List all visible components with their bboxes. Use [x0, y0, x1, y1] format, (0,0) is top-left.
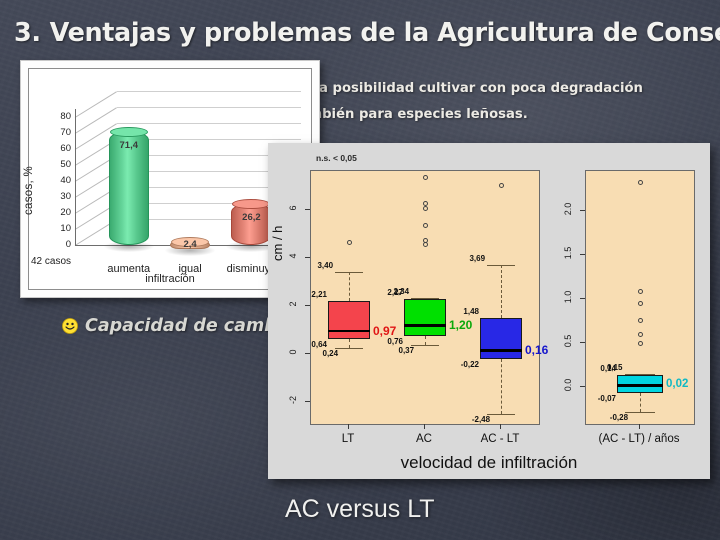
boxplot-whisker-cap-lower	[335, 348, 363, 349]
bar-chart-y-tick: 40	[51, 175, 71, 186]
boxplot-whisker-cap-lower	[487, 414, 515, 415]
boxplot-x-tick-mark	[639, 424, 640, 429]
boxplot-y-tick-label: 0.5	[563, 330, 573, 352]
boxplot-outlier-point	[638, 180, 643, 185]
boxplot-y-tick-mark	[305, 353, 310, 354]
bar-chart-y-tick: 50	[51, 159, 71, 170]
boxplot-category-label: (AC - LT) / años	[579, 433, 699, 445]
boxplot-y-tick-label: 1.0	[563, 286, 573, 308]
bar-value-label: 2,4	[170, 239, 210, 250]
bar-chart-y-tick: 20	[51, 207, 71, 218]
boxplot-y-tick-mark	[580, 254, 585, 255]
boxplot-y-tick-mark	[305, 401, 310, 402]
bar-chart-y-tick: 60	[51, 143, 71, 154]
boxplot-whisker-upper	[349, 272, 350, 301]
page-title: 3.Ventajas y problemas de la Agricultura…	[14, 18, 714, 48]
boxplot-x-tick-mark	[500, 424, 501, 429]
title-number: 3.	[14, 18, 41, 48]
boxplot-q1-label: -0,07	[598, 394, 616, 403]
boxplot-whisker-upper	[501, 265, 502, 318]
boxplot-y-tick-label: 2	[288, 293, 298, 315]
boxplot-whisker-cap-lower	[411, 345, 439, 346]
bar-value-label: 71,4	[109, 140, 149, 151]
bar-chart-y-tick: 70	[51, 127, 71, 138]
boxplot-q1-label: 0,64	[311, 340, 327, 349]
boxplot-q3-label: 1,48	[463, 307, 479, 316]
bar-value-label: 26,2	[231, 212, 271, 223]
bar-cylinder-body	[231, 203, 271, 245]
boxplot-y-tick-label: 4	[288, 245, 298, 267]
boxplot-median-value-label: 0,97	[373, 324, 396, 338]
capacidad-label: Capacidad de cambio	[85, 316, 295, 336]
bar-cylinder-top	[232, 199, 270, 209]
boxplot-y-tick-mark	[580, 298, 585, 299]
bar-chart-y-tick: 30	[51, 191, 71, 202]
boxplot-outlier-point	[638, 301, 643, 306]
boxplot-y-tick-mark	[580, 386, 585, 387]
boxplot-y-tick-label: 1.5	[563, 242, 573, 264]
boxplot-whisker-cap-upper	[487, 265, 515, 266]
bar-chart-y-axis-label: casos, %	[23, 95, 35, 215]
boxplot-x-tick-mark	[424, 424, 425, 429]
boxplot-whisker-high-label: 3,40	[317, 261, 333, 270]
boxplot-x-axis-title: velocidad de infiltración	[268, 453, 710, 473]
boxplot-q3-label: 2,27	[387, 288, 403, 297]
boxplot-y-axis-label: cm / h	[270, 226, 285, 261]
boxplot-y-tick-mark	[580, 342, 585, 343]
boxplot-outlier-point	[423, 223, 428, 228]
bar-chart-gridline	[117, 123, 301, 124]
boxplot-y-tick-label: 0.0	[563, 374, 573, 396]
boxplot-median-line	[480, 349, 522, 352]
boxplot-y-tick-mark	[305, 209, 310, 210]
boxplot-plot-area-left: 3,402,210,640,240,972,342,270,760,371,20…	[310, 170, 540, 425]
boxplot-whisker-low-label: 0,37	[399, 346, 415, 355]
bar-chart-bar: 71,4	[109, 131, 149, 245]
boxplot-outlier-point	[638, 341, 643, 346]
boxplot-outlier-point	[347, 240, 352, 245]
boxplot-median-value-label: 0,16	[525, 343, 548, 357]
bar-chart-y-tick: 0	[51, 239, 71, 250]
boxplot-outlier-point	[423, 206, 428, 211]
boxplot-median-line	[328, 330, 370, 333]
boxplot-outlier-point	[423, 242, 428, 247]
title-text: Ventajas y problemas de la Agricultura d…	[50, 18, 720, 48]
bar-chart-y-tick: 10	[51, 223, 71, 234]
boxplot-whisker-low-label: -0,28	[610, 413, 628, 422]
boxplot-whisker-lower	[501, 359, 502, 413]
capacidad-de-cambio-caption: Capacidad de cambio	[62, 316, 295, 336]
boxplot-box	[480, 318, 522, 359]
boxplot-whisker-high-label: 3,69	[469, 254, 485, 263]
boxplot-outlier-point	[423, 175, 428, 180]
boxplot-y-tick-label: -2	[288, 389, 298, 411]
bar-chart-gridline	[117, 107, 301, 108]
boxplot-whisker-low-label: -2,48	[472, 415, 490, 424]
bar-chart-depth-line	[75, 91, 118, 118]
boxplot-y-tick-label: 0	[288, 341, 298, 363]
boxplot-whisker-cap-upper	[335, 272, 363, 273]
boxplot-x-tick-mark	[348, 424, 349, 429]
boxplot-q3-label: 2,21	[311, 290, 327, 299]
boxplot-median-value-label: 1,20	[449, 318, 472, 332]
boxplot-q1-label: -0,22	[461, 360, 479, 369]
boxplot-outlier-point	[499, 183, 504, 188]
boxplot-whisker-lower	[640, 393, 641, 412]
boxplot-whisker-cap-lower	[625, 412, 655, 413]
boxplot-median-value-label: 0,02	[666, 378, 688, 390]
boxplot-whisker-low-label: 0,24	[323, 349, 339, 358]
boxplot-outlier-point	[638, 332, 643, 337]
boxplot-q1-label: 0,76	[387, 337, 403, 346]
boxplot-median-line	[617, 384, 663, 387]
boxplot-y-tick-label: 6	[288, 197, 298, 219]
boxplot-y-tick-mark	[580, 210, 585, 211]
boxplot-whisker-lower	[349, 339, 350, 349]
bar-cylinder-top	[110, 127, 148, 137]
significance-annotation: n.s. < 0,05	[316, 153, 357, 163]
bar-chart-gridline	[117, 91, 301, 92]
boxplot-y-tick-label: 2.0	[563, 198, 573, 220]
boxplot-plot-area-right: 0,150,14-0,07-0,280,02	[585, 170, 695, 425]
boxplot-y-tick-mark	[305, 305, 310, 306]
boxplot-box	[328, 301, 370, 339]
bar-chart-sample-note: 42 casos	[31, 256, 71, 267]
bottom-caption: AC versus LT	[285, 495, 435, 524]
boxplot-category-label: AC - LT	[440, 433, 560, 445]
boxplot-whisker-lower	[425, 336, 426, 345]
boxplot-outlier-point	[638, 318, 643, 323]
boxplot-panel: n.s. < 0,05 cm / h 3,402,210,640,240,972…	[268, 143, 710, 479]
bar-chart-bar: 26,2	[231, 203, 271, 245]
boxplot-q3-label: 0,14	[600, 364, 616, 373]
boxplot-y-tick-mark	[305, 257, 310, 258]
boxplot-box	[404, 299, 446, 335]
bar-chart-bar: 2,4	[170, 241, 210, 249]
smiley-face-icon	[62, 318, 78, 334]
bar-chart-y-tick: 80	[51, 111, 71, 122]
bar-chart-y-axis	[75, 109, 76, 245]
boxplot-median-line	[404, 324, 446, 327]
boxplot-outlier-point	[638, 289, 643, 294]
